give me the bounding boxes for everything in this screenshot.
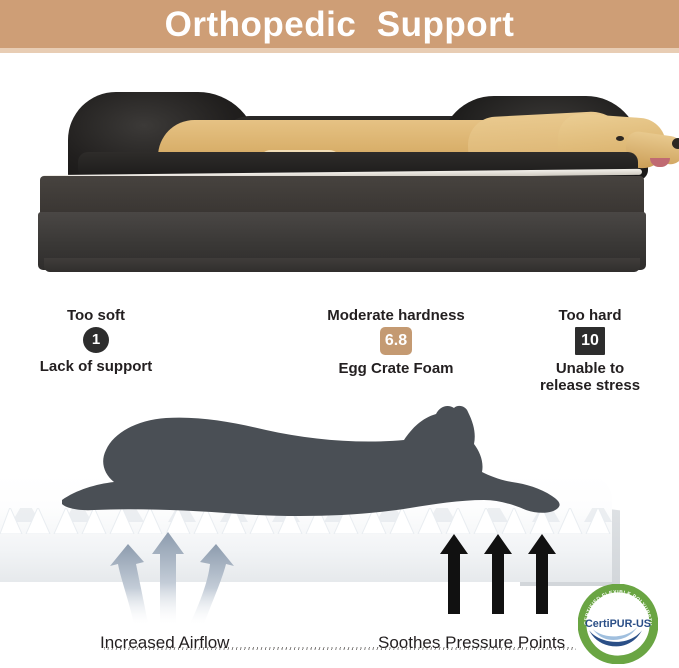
- scale-marker-10: 10: [575, 327, 605, 355]
- scale-point-top-label: Moderate hardness: [312, 308, 480, 325]
- product-photo: [0, 56, 679, 294]
- page-title: Orthopedic Support: [165, 7, 515, 42]
- caption-soothes-pressure-points: Soothes Pressure Points: [378, 633, 565, 653]
- hardness-scale: Too soft 1 Lack of support Moderate hard…: [0, 300, 679, 400]
- bed-base-lip: [44, 258, 640, 272]
- badge-wordmark: CertiPUR-US: [585, 618, 651, 630]
- scale-point-moderate: Moderate hardness 6.8 Egg Crate Foam: [312, 308, 480, 377]
- scale-marker-wrap: 10: [520, 327, 660, 355]
- scale-point-bottom-label: Lack of support: [20, 358, 172, 375]
- scale-point-too-hard: Too hard 10 Unable torelease stress: [520, 308, 660, 394]
- dog-bed-illustration: [38, 160, 646, 270]
- dog-eye: [616, 136, 624, 141]
- scale-point-bottom-label: Unable torelease stress: [520, 360, 660, 395]
- pressure-arrows: [440, 534, 560, 614]
- dog-silhouette: [60, 404, 580, 520]
- certipur-us-badge: CONTAINS CERTIFIED FLEXIBLE POLYURETHANE…: [578, 584, 658, 664]
- scale-marker-68: 6.8: [380, 327, 412, 355]
- scale-marker-1: 1: [83, 327, 109, 353]
- scale-marker-wrap: 6.8: [312, 327, 480, 355]
- header-underline: [0, 48, 679, 53]
- scale-point-bottom-label: Egg Crate Foam: [312, 360, 480, 377]
- scale-point-top-label: Too hard: [520, 308, 660, 325]
- header-banner: Orthopedic Support: [0, 0, 679, 48]
- bed-mattress-band: [40, 176, 644, 216]
- airflow-arrows: [104, 532, 244, 624]
- scale-point-too-soft: Too soft 1 Lack of support: [20, 308, 172, 375]
- scale-point-top-label: Too soft: [20, 308, 172, 325]
- scale-marker-wrap: 1: [20, 327, 172, 353]
- caption-increased-airflow: Increased Airflow: [100, 633, 229, 653]
- dog-nose: [672, 138, 679, 149]
